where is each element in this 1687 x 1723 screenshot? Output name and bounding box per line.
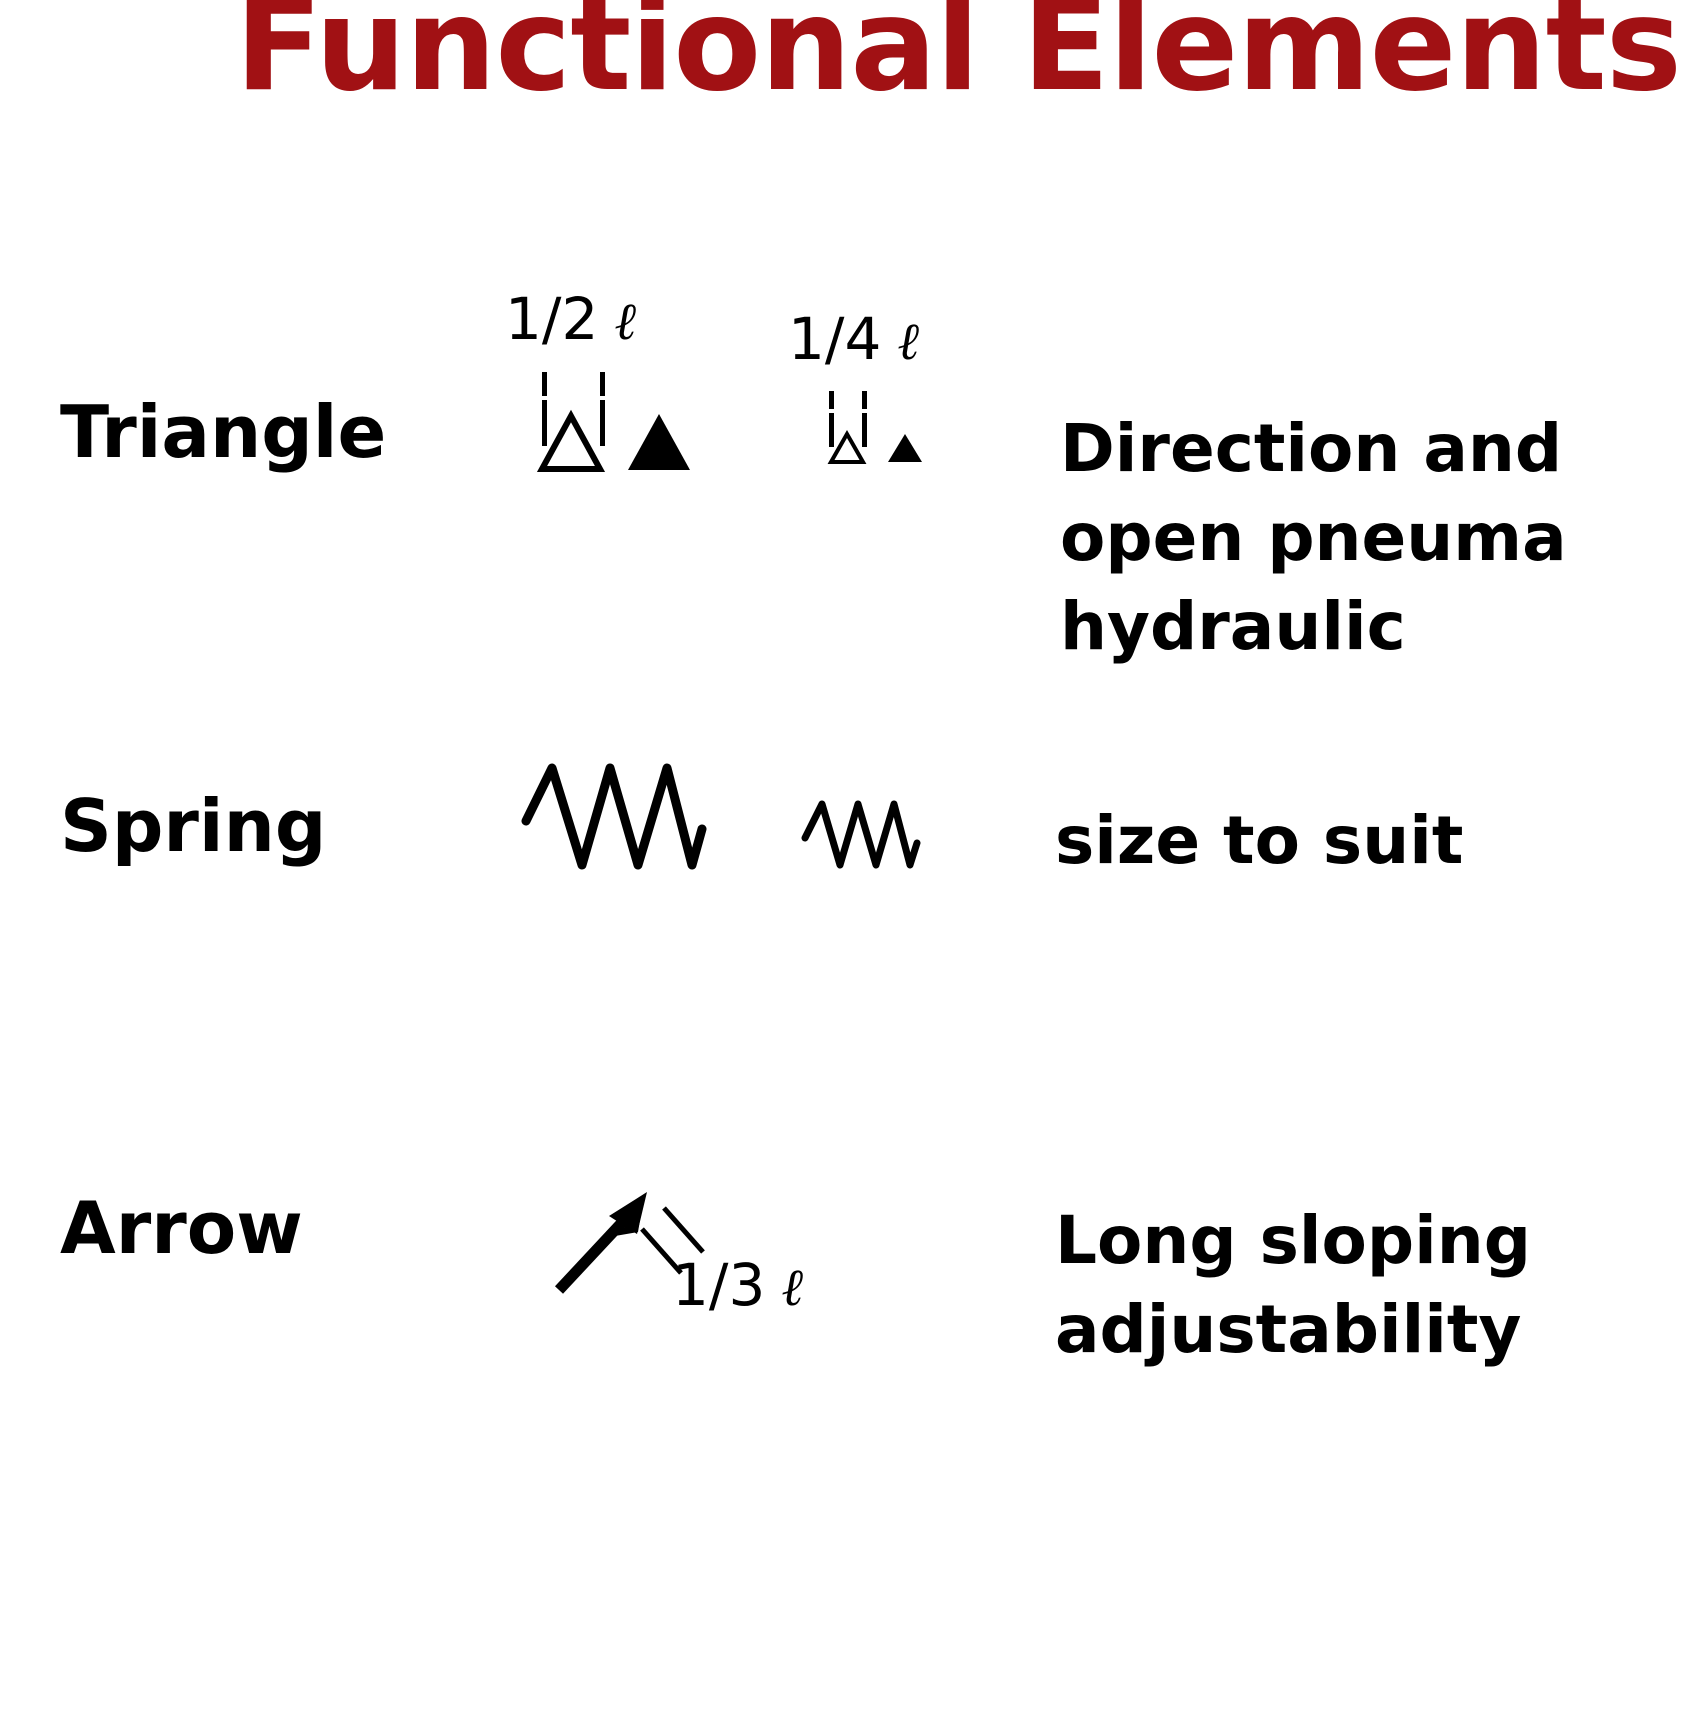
fraction-value: 1/4	[788, 305, 881, 373]
fraction-value: 1/3	[672, 1251, 765, 1319]
triangle-outline-small-icon	[822, 428, 882, 473]
desc-line: Long sloping	[1055, 1196, 1531, 1285]
row-label-arrow: Arrow	[60, 1192, 303, 1264]
row-description-spring: size to suit	[1055, 796, 1463, 885]
extension-tick-icon	[862, 391, 867, 409]
extension-tick-icon	[600, 372, 605, 396]
desc-line: open pneuma	[1060, 493, 1567, 582]
triangle-outline-icon	[530, 408, 620, 478]
triangle-filled-icon	[618, 408, 708, 478]
desc-line: hydraulic	[1060, 582, 1567, 671]
desc-line: Direction and	[1060, 404, 1567, 493]
ell-symbol: ℓ	[897, 312, 919, 372]
desc-line: size to suit	[1055, 796, 1463, 885]
row-description-triangle: Direction and open pneuma hydraulic	[1060, 404, 1567, 671]
dimension-label-quarter: 1/4ℓ	[788, 310, 919, 368]
ell-symbol: ℓ	[781, 1258, 803, 1318]
dimension-label-half: 1/2ℓ	[505, 290, 636, 348]
row-label-spring: Spring	[60, 790, 326, 862]
extension-tick-icon	[829, 391, 834, 409]
row-label-triangle: Triangle	[60, 396, 386, 468]
row-description-arrow: Long sloping adjustability	[1055, 1196, 1531, 1374]
fraction-value: 1/2	[505, 285, 598, 353]
ell-symbol: ℓ	[614, 292, 636, 352]
page-title: Functional Elements	[235, 0, 1681, 110]
spring-large-icon	[520, 755, 720, 875]
spring-small-icon	[800, 795, 940, 875]
triangle-filled-small-icon	[880, 428, 940, 473]
dimension-label-third: 1/3ℓ	[672, 1256, 803, 1314]
desc-line: adjustability	[1055, 1285, 1531, 1374]
extension-tick-icon	[542, 372, 547, 396]
